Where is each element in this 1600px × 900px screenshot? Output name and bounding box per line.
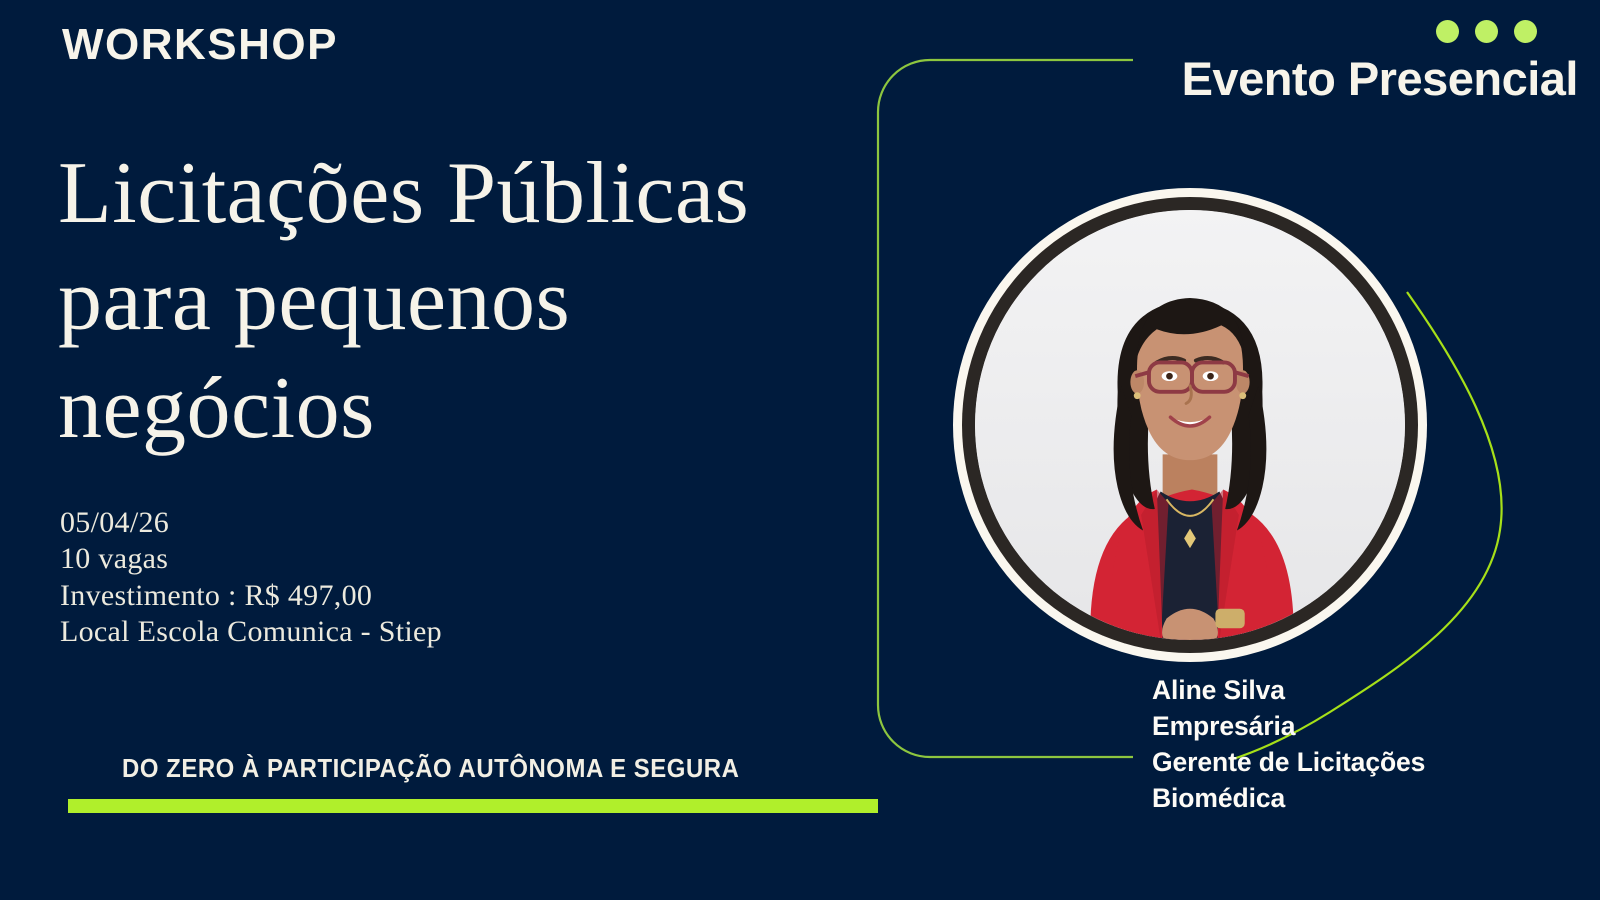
dot-icon	[1475, 20, 1498, 43]
speaker-photo-ring	[962, 197, 1418, 653]
dot-group	[1436, 20, 1537, 43]
dot-icon	[1436, 20, 1459, 43]
speaker-photo-frame	[953, 188, 1427, 662]
workshop-kicker: WORKSHOP	[62, 23, 338, 67]
poster-canvas: WORKSHOP Evento Presencial Licitações Pú…	[0, 0, 1600, 900]
event-price: Investimento : R$ 497,00	[60, 578, 442, 614]
event-type-badge: Evento Presencial	[1182, 53, 1578, 105]
speaker-info: Aline Silva Empresária Gerente de Licita…	[1152, 672, 1425, 816]
event-date: 05/04/26	[60, 505, 442, 541]
speaker-role-2: Gerente de Licitações	[1152, 744, 1425, 780]
speaker-portrait-illustration	[975, 210, 1405, 640]
headline-line-3: negócios	[58, 355, 818, 462]
speaker-role-1: Empresária	[1152, 708, 1425, 744]
headline-line-2: para pequenos	[58, 247, 818, 354]
event-venue: Local Escola Comunica - Stiep	[60, 614, 442, 650]
speaker-name: Aline Silva	[1152, 672, 1425, 708]
page-title: Licitações Públicas para pequenos negóci…	[58, 140, 818, 462]
event-seats: 10 vagas	[60, 541, 442, 577]
accent-bar	[68, 799, 878, 813]
avatar	[975, 210, 1405, 640]
dot-icon	[1514, 20, 1537, 43]
headline-line-1: Licitações Públicas	[58, 140, 818, 247]
event-details: 05/04/26 10 vagas Investimento : R$ 497,…	[60, 505, 442, 650]
speaker-role-3: Biomédica	[1152, 780, 1425, 816]
tagline: DO ZERO À PARTICIPAÇÃO AUTÔNOMA E SEGURA	[122, 753, 739, 784]
